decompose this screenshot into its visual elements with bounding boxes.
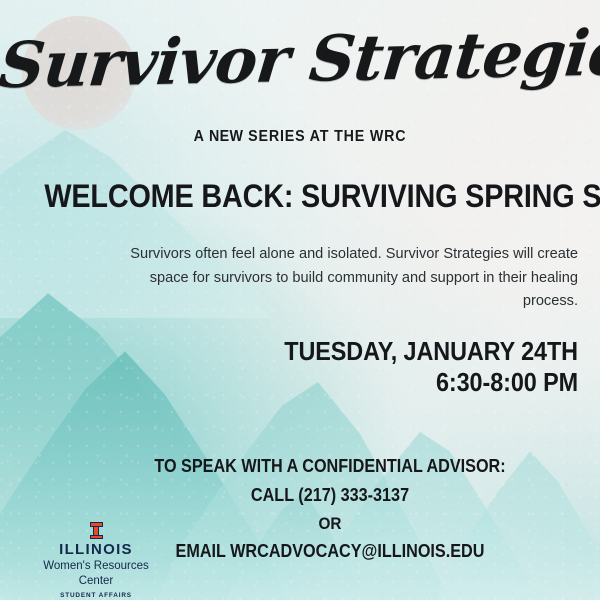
contact-separator: OR — [105, 510, 555, 537]
contact-heading: TO SPEAK WITH A CONFIDENTIAL ADVISOR: — [105, 452, 555, 481]
contact-email[interactable]: EMAIL WRCADVOCACY@ILLINOIS.EDU — [105, 537, 555, 566]
event-headline: WELCOME BACK: SURVIVING SPRING SEMESTER — [44, 178, 555, 215]
series-script-title: Survivor Strategies — [0, 22, 600, 98]
logo-unit: Women's Resources Center — [28, 559, 164, 589]
illinois-block-i-icon — [90, 522, 103, 539]
illinois-wrc-logo: ILLINOIS Women's Resources Center STUDEN… — [28, 522, 164, 599]
series-subtitle: A NEW SERIES AT THE WRC — [24, 128, 576, 146]
logo-institution: ILLINOIS — [28, 541, 164, 558]
poster-canvas: Survivor Strategies A NEW SERIES AT THE … — [0, 0, 600, 600]
event-date: TUESDAY, JANUARY 24TH — [200, 336, 578, 366]
subtitle-suffix: SERIES AT THE WRC — [243, 128, 406, 145]
event-time: 6:30-8:00 PM — [200, 366, 578, 400]
contact-phone[interactable]: CALL (217) 333-3137 — [105, 481, 555, 510]
subtitle-highlight: NEW — [209, 128, 243, 145]
event-datetime-block: TUESDAY, JANUARY 24TH 6:30-8:00 PM — [158, 336, 578, 400]
subtitle-prefix: A — [194, 128, 209, 145]
event-description: Survivors often feel alone and isolated.… — [126, 243, 578, 314]
logo-division: STUDENT AFFAIRS — [28, 592, 164, 599]
